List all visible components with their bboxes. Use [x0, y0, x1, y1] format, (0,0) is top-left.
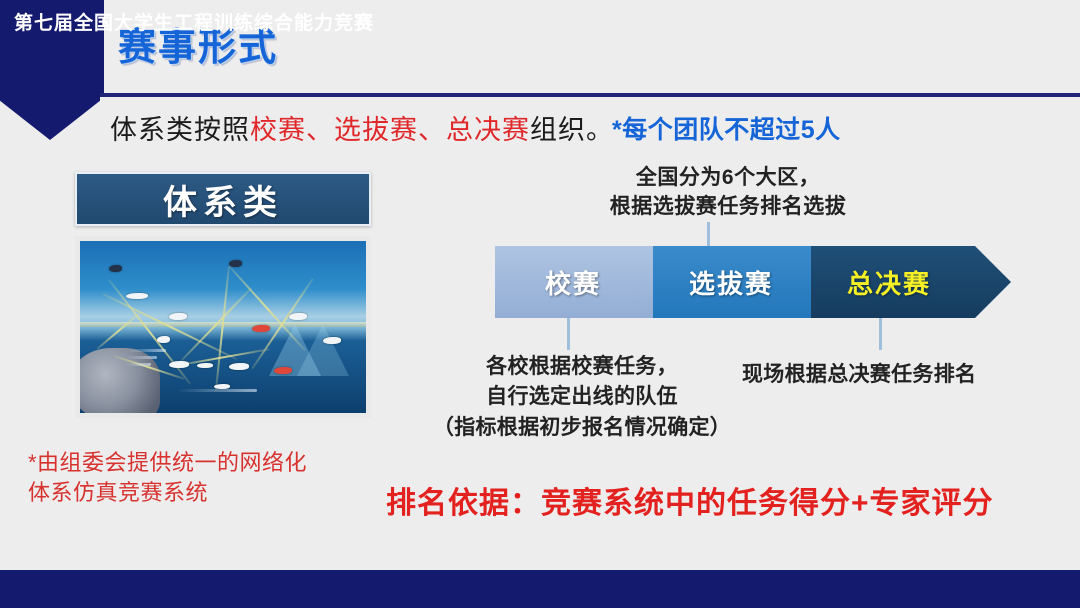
helicopter-node-icon	[252, 325, 270, 332]
category-card-header: 体系类	[75, 172, 371, 226]
wake-trail	[177, 389, 257, 392]
headline-suffix: 组织。	[530, 115, 614, 145]
stage-label-school: 校赛	[495, 264, 651, 301]
aircraft-node-icon	[126, 293, 148, 299]
stage-label-regional: 选拔赛	[653, 264, 809, 301]
ship-node-icon	[274, 367, 292, 374]
wake-trail	[126, 363, 152, 366]
school-stage-caption-line-2: 自行选定出线的队伍	[432, 382, 732, 412]
wake-trail	[126, 349, 166, 352]
footer-bar	[0, 570, 1080, 608]
connector-line-left	[567, 316, 570, 350]
organizer-note: *由组委会提供统一的网络化 体系仿真竞赛系统	[28, 448, 388, 507]
school-stage-caption-line-3: （指标根据初步报名情况确定）	[432, 413, 732, 443]
link-line	[97, 311, 142, 349]
organizer-note-line-1: *由组委会提供统一的网络化	[28, 448, 388, 478]
slide-canvas: 赛事形式 体系类按照校赛、选拔赛、总决赛组织。 *每个团队不超过5人 体系类	[0, 0, 1080, 608]
headline-prefix: 体系类按照	[110, 115, 250, 145]
school-stage-caption-line-1: 各校根据校赛任务，	[432, 352, 732, 382]
organizer-note-line-2: 体系仿真竞赛系统	[28, 478, 388, 508]
title-bottom-rule	[100, 93, 1080, 97]
ship-node-icon	[229, 363, 249, 370]
aircraft-node-icon	[229, 260, 242, 267]
ship-node-icon	[157, 336, 170, 343]
process-chevron-group: 校赛 选拔赛 总决赛	[495, 246, 980, 318]
final-stage-caption: 现场根据总决赛任务排名	[742, 358, 1042, 388]
headline-text: 体系类按照校赛、选拔赛、总决赛组织。	[110, 108, 614, 147]
category-card-image	[75, 236, 371, 418]
aircraft-node-icon	[289, 313, 307, 320]
ship-node-icon	[169, 361, 189, 368]
connector-line-right	[879, 316, 882, 350]
category-card-label: 体系类	[163, 175, 283, 224]
submarine-node-icon	[197, 363, 213, 368]
headline-highlight: 校赛、选拔赛、总决赛	[250, 115, 530, 145]
school-stage-caption: 各校根据校赛任务， 自行选定出线的队伍 （指标根据初步报名情况确定）	[432, 352, 732, 443]
helicopter-node-icon	[169, 313, 187, 320]
stage-label-final: 总决赛	[811, 264, 967, 301]
selection-caption: 全国分为6个大区， 根据选拔赛任务排名选拔	[578, 163, 878, 222]
link-line	[228, 265, 306, 351]
selection-caption-line-2: 根据选拔赛任务排名选拔	[578, 192, 878, 221]
stage-chevron-final[interactable]: 总决赛	[811, 246, 1011, 318]
team-size-note: *每个团队不超过5人	[612, 110, 841, 146]
aircraft-node-icon	[109, 265, 122, 272]
network-illustration	[80, 241, 366, 413]
wake-trail	[126, 356, 157, 359]
ranking-criteria-text: 排名依据：竞赛系统中的任务得分+专家评分	[386, 478, 994, 522]
selection-caption-line-1: 全国分为6个大区，	[578, 163, 878, 192]
footer-title: 第七届全国大学生工程训练综合能力竞赛	[14, 8, 374, 35]
link-line	[215, 266, 230, 391]
